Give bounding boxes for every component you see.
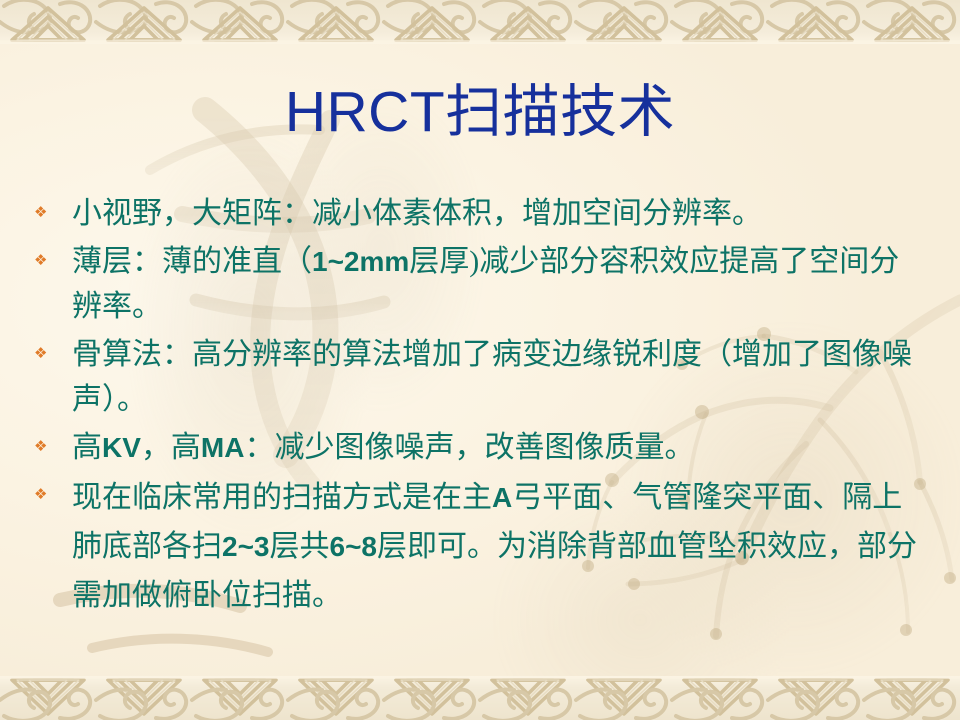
title-cjk-run: 扫描技术	[445, 80, 675, 144]
latin-run: KV	[102, 432, 141, 463]
diamond-bullet-icon: ❖	[34, 426, 72, 454]
bullet-text-fov-matrix: 小视野，大矩阵：减小体素体积，增加空间分辨率。	[72, 192, 928, 236]
bottom-decorative-border	[0, 676, 960, 720]
bullet-item-clinical-protocol: ❖ 现在临床常用的扫描方式是在主A弓平面、气管隆突平面、隔上肺底部各扫2~3层共…	[34, 474, 928, 620]
bullet-item-fov-matrix: ❖ 小视野，大矩阵：减小体素体积，增加空间分辨率。	[34, 192, 928, 236]
bullet-text-thin-slice: 薄层：薄的准直（1~2mm层厚)减少部分容积效应提高了空间分辨率。	[72, 240, 928, 329]
bullet-item-high-kv-ma: ❖ 高KV，高MA：减少图像噪声，改善图像质量。	[34, 426, 928, 470]
diamond-bullet-icon: ❖	[34, 333, 72, 361]
latin-run: 6~8	[330, 531, 378, 562]
latin-run: 1~2mm	[312, 246, 409, 277]
top-decorative-border	[0, 0, 960, 44]
latin-run: A	[492, 482, 512, 513]
diamond-bullet-icon: ❖	[34, 240, 72, 268]
slide-title: HRCT扫描技术	[0, 82, 960, 144]
bullet-text-high-kv-ma: 高KV，高MA：减少图像噪声，改善图像质量。	[72, 426, 928, 470]
latin-run: 2~3	[222, 531, 270, 562]
bullet-item-thin-slice: ❖ 薄层：薄的准直（1~2mm层厚)减少部分容积效应提高了空间分辨率。	[34, 240, 928, 329]
bullet-text-clinical-protocol: 现在临床常用的扫描方式是在主A弓平面、气管隆突平面、隔上肺底部各扫2~3层共6~…	[72, 474, 928, 620]
presentation-slide: HRCT扫描技术 ❖ 小视野，大矩阵：减小体素体积，增加空间分辨率。 ❖ 薄层：…	[0, 0, 960, 720]
title-latin-run: HRCT	[285, 80, 445, 144]
latin-run: MA	[201, 432, 245, 463]
bullet-text-bone-algorithm: 骨算法：高分辨率的算法增加了病变边缘锐利度（增加了图像噪声）。	[72, 333, 928, 422]
bullet-item-bone-algorithm: ❖ 骨算法：高分辨率的算法增加了病变边缘锐利度（增加了图像噪声）。	[34, 333, 928, 422]
diamond-bullet-icon: ❖	[34, 192, 72, 220]
slide-body: ❖ 小视野，大矩阵：减小体素体积，增加空间分辨率。 ❖ 薄层：薄的准直（1~2m…	[34, 192, 928, 624]
diamond-bullet-icon: ❖	[34, 474, 72, 502]
